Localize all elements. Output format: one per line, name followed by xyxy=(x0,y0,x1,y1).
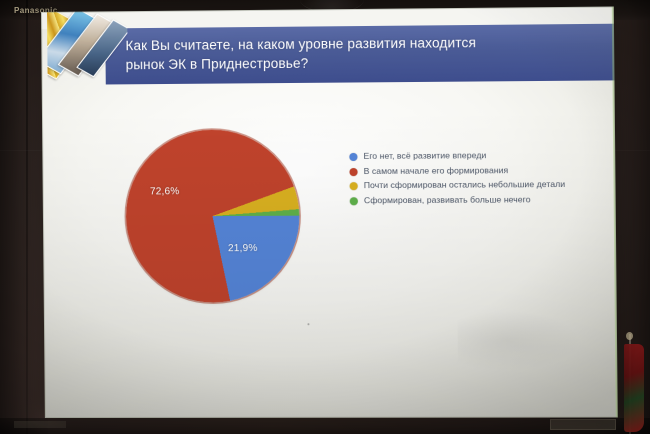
pie-slice-label-red: 72,6% xyxy=(150,186,180,197)
slide-header-band: Как Вы считаете, на каком уровне развити… xyxy=(105,24,614,85)
flag-cloth xyxy=(624,344,644,432)
circle-marker-red xyxy=(349,168,357,176)
legend-item-label: Его нет, всё развитие впереди xyxy=(363,150,486,161)
legend-item: В самом начале его формирования xyxy=(349,164,568,176)
circle-marker-blue xyxy=(349,153,357,161)
legend-item-label: В самом начале его формирования xyxy=(364,165,509,176)
screen-speck xyxy=(343,45,345,47)
pie-chart: 72,6% 21,9% xyxy=(125,129,300,303)
pie-chart-slices xyxy=(125,129,300,303)
flag-object xyxy=(618,334,644,434)
wall-plate-right xyxy=(550,419,616,430)
page-title-line-1: Как Вы считаете, на каком уровне развити… xyxy=(125,35,476,53)
legend-item-label: Почти сформирован остались небольшие дет… xyxy=(364,179,566,191)
legend-item: Почти сформирован остались небольшие дет… xyxy=(350,179,569,191)
projection-screen: Как Вы считаете, на каком уровне развити… xyxy=(41,7,618,419)
wall-plate-left xyxy=(14,421,66,428)
chart-legend: Его нет, всё развитие впередиВ самом нач… xyxy=(349,150,568,210)
legend-item-label: Сформирован, развивать больше нечего xyxy=(364,194,531,206)
legend-item: Его нет, всё развитие впереди xyxy=(349,150,568,162)
chart-area: 72,6% 21,9% Его нет, всё развитие вперед… xyxy=(42,80,618,418)
screen-speck xyxy=(307,323,309,325)
pie-slice-label-blue: 21,9% xyxy=(228,243,258,254)
circle-marker-gold xyxy=(350,182,358,190)
page-title-line-2: рынок ЭК в Приднестровье? xyxy=(126,51,582,74)
page-title: Как Вы считаете, на каком уровне развити… xyxy=(125,32,581,74)
projected-slide: Как Вы считаете, на каком уровне развити… xyxy=(41,7,618,419)
circle-marker-green xyxy=(350,197,358,205)
room-photograph: Panasonic Как Вы считаете, на каком уров… xyxy=(0,0,650,434)
legend-item: Сформирован, развивать больше нечего xyxy=(350,194,569,206)
flag-finial-icon xyxy=(626,332,633,340)
